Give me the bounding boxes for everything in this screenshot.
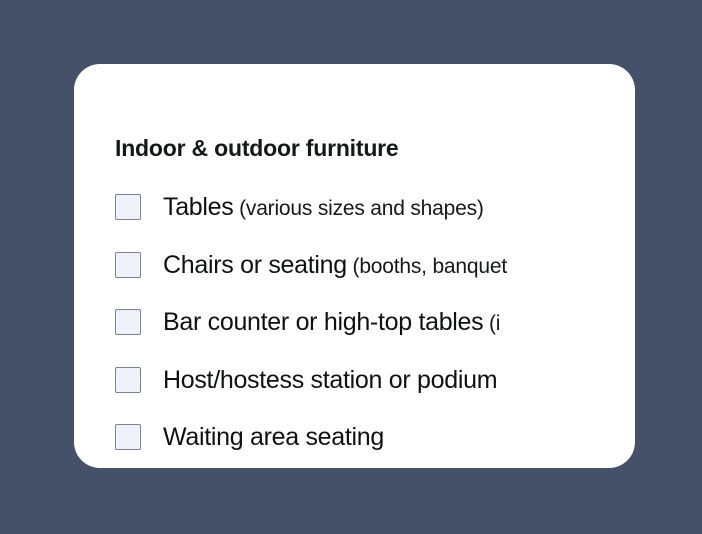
checklist-card-content: Indoor & outdoor furniture Tables (vario… xyxy=(74,64,635,468)
checkbox-unchecked-icon[interactable] xyxy=(115,424,141,450)
list-item[interactable]: Host/hostess station or podium xyxy=(115,359,635,401)
list-item-label-main: Tables xyxy=(163,193,233,221)
list-item-label-note: (i xyxy=(483,312,500,335)
checkbox-unchecked-icon[interactable] xyxy=(115,367,141,393)
list-item[interactable]: Tables (various sizes and shapes) xyxy=(115,186,635,228)
checkbox-unchecked-icon[interactable] xyxy=(115,309,141,335)
page-background: Indoor & outdoor furniture Tables (vario… xyxy=(0,0,702,534)
list-item-label-main: Waiting area seating xyxy=(163,423,384,451)
checkbox-unchecked-icon[interactable] xyxy=(115,194,141,220)
list-item[interactable]: Bar counter or high-top tables (i xyxy=(115,301,635,343)
list-item-label-note: (booths, banquet xyxy=(347,255,507,278)
page-title: Indoor & outdoor furniture xyxy=(115,135,399,162)
list-item-label: Chairs or seating (booths, banquet xyxy=(163,253,507,278)
list-item-label-main: Chairs or seating xyxy=(163,251,347,279)
list-item-label-main: Bar counter or high-top tables xyxy=(163,308,483,336)
checkbox-unchecked-icon[interactable] xyxy=(115,252,141,278)
furniture-checklist-card: Indoor & outdoor furniture Tables (vario… xyxy=(74,64,635,468)
list-item-label: Host/hostess station or podium xyxy=(163,368,497,393)
list-item[interactable]: Waiting area seating xyxy=(115,416,635,458)
list-item-label: Tables (various sizes and shapes) xyxy=(163,195,484,220)
list-item-label-note: (various sizes and shapes) xyxy=(233,197,483,220)
list-item[interactable]: Chairs or seating (booths, banquet xyxy=(115,244,635,286)
list-item-label-main: Host/hostess station or podium xyxy=(163,366,497,394)
list-item-label: Waiting area seating xyxy=(163,425,384,450)
list-item-label: Bar counter or high-top tables (i xyxy=(163,310,500,335)
